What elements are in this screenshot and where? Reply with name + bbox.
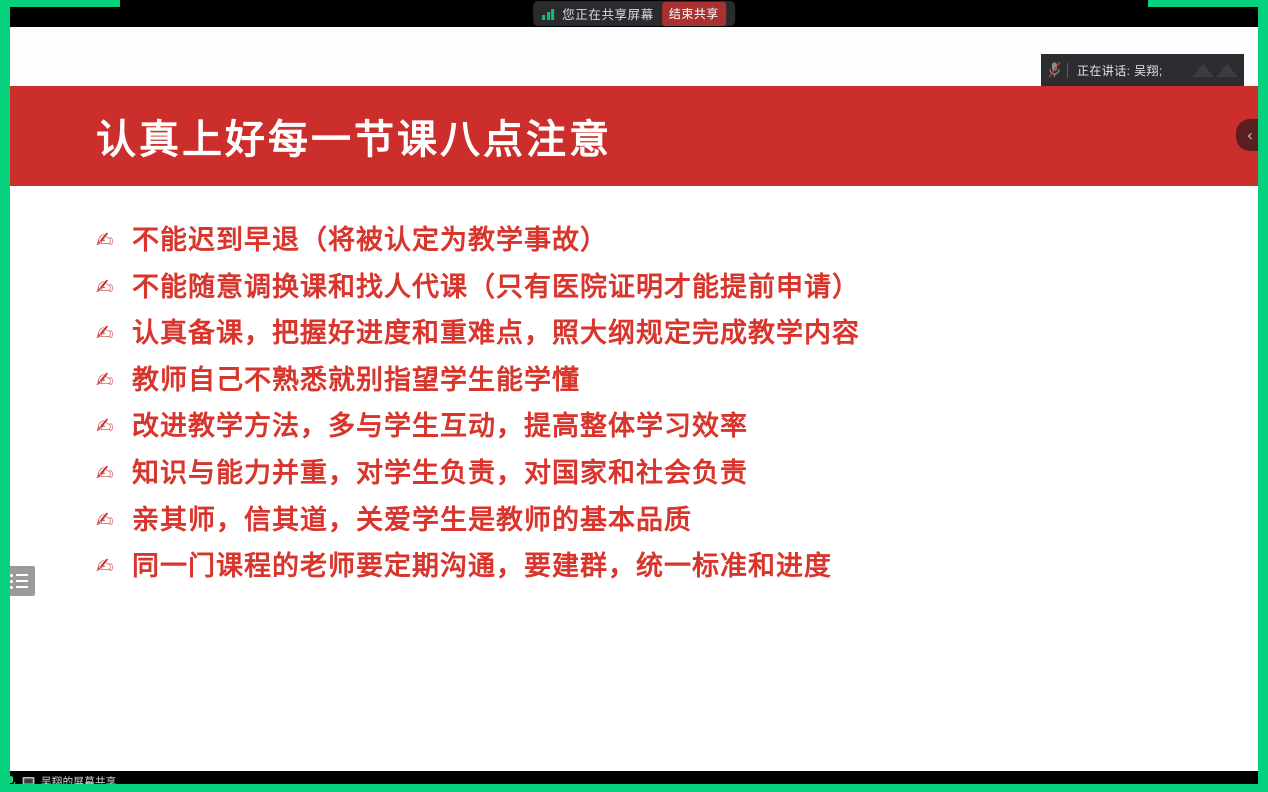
pen-bullet-icon: ✍	[96, 277, 120, 298]
pen-bullet-icon: ✍	[96, 323, 120, 344]
stop-share-button[interactable]: 结束共享	[662, 2, 726, 26]
list-item: ✍ 改进教学方法，多与学生互动，提高整体学习效率	[96, 404, 1258, 451]
double-chevron-icon	[1192, 64, 1238, 77]
mic-on-icon[interactable]	[6, 775, 16, 789]
active-speaker-bar: 正在讲话: 吴翔;	[1041, 54, 1244, 86]
list-item-text: 改进教学方法，多与学生互动，提高整体学习效率	[132, 404, 748, 443]
list-item-text: 不能迟到早退（将被认定为教学事故）	[132, 218, 608, 257]
mic-muted-icon[interactable]	[1041, 54, 1067, 86]
list-item-text: 知识与能力并重，对学生负责，对国家和社会负责	[132, 451, 748, 490]
top-chrome-bar: 您正在共享屏幕 结束共享	[0, 0, 1268, 27]
bottom-status-bar: 吴翔的屏幕共享	[0, 771, 1268, 792]
list-item: ✍ 亲其师，信其道，关爱学生是教师的基本品质	[96, 498, 1258, 545]
list-item: ✍ 不能迟到早退（将被认定为教学事故）	[96, 218, 1258, 265]
sharing-toast: 您正在共享屏幕 结束共享	[533, 1, 735, 26]
chevron-left-icon[interactable]: ‹	[1236, 119, 1264, 151]
monitor-icon	[22, 776, 35, 788]
pen-bullet-icon: ✍	[96, 230, 120, 251]
shared-slide: 认真上好每一节课八点注意 ✍ 不能迟到早退（将被认定为教学事故） ✍ 不能随意调…	[10, 27, 1258, 771]
pen-bullet-icon: ✍	[96, 463, 120, 484]
divider	[1067, 63, 1068, 78]
pen-bullet-icon: ✍	[96, 510, 120, 531]
slide-title: 认真上好每一节课八点注意	[96, 107, 612, 165]
list-outline-glyph	[10, 574, 28, 589]
list-item-text: 亲其师，信其道，关爱学生是教师的基本品质	[132, 498, 692, 537]
sharing-notice-label: 您正在共享屏幕	[562, 4, 654, 23]
meeting-screen-share-view: 认真上好每一节课八点注意 ✍ 不能迟到早退（将被认定为教学事故） ✍ 不能随意调…	[0, 0, 1268, 792]
list-item: ✍ 认真备课，把握好进度和重难点，照大纲规定完成教学内容	[96, 311, 1258, 358]
list-item-text: 认真备课，把握好进度和重难点，照大纲规定完成教学内容	[132, 311, 860, 350]
pen-bullet-icon: ✍	[96, 556, 120, 577]
list-item-text: 教师自己不熟悉就别指望学生能学懂	[132, 358, 580, 397]
list-item: ✍ 教师自己不熟悉就别指望学生能学懂	[96, 358, 1258, 405]
list-item-text: 不能随意调换课和找人代课（只有医院证明才能提前申请）	[132, 265, 860, 304]
share-border-left	[0, 0, 10, 792]
list-outline-icon[interactable]	[3, 566, 35, 596]
list-item: ✍ 同一门课程的老师要定期沟通，要建群，统一标准和进度	[96, 544, 1258, 591]
list-item-text: 同一门课程的老师要定期沟通，要建群，统一标准和进度	[132, 544, 832, 583]
slide-bullet-list: ✍ 不能迟到早退（将被认定为教学事故） ✍ 不能随意调换课和找人代课（只有医院证…	[10, 186, 1258, 591]
pen-bullet-icon: ✍	[96, 416, 120, 437]
slide-title-band: 认真上好每一节课八点注意	[10, 86, 1258, 186]
signal-bars-icon	[542, 8, 554, 20]
active-speaker-label: 正在讲话: 吴翔;	[1077, 62, 1163, 79]
pen-bullet-icon: ✍	[96, 370, 120, 391]
screen-share-owner-label: 吴翔的屏幕共享	[41, 774, 117, 789]
list-item: ✍ 不能随意调换课和找人代课（只有医院证明才能提前申请）	[96, 265, 1258, 312]
list-item: ✍ 知识与能力并重，对学生负责，对国家和社会负责	[96, 451, 1258, 498]
